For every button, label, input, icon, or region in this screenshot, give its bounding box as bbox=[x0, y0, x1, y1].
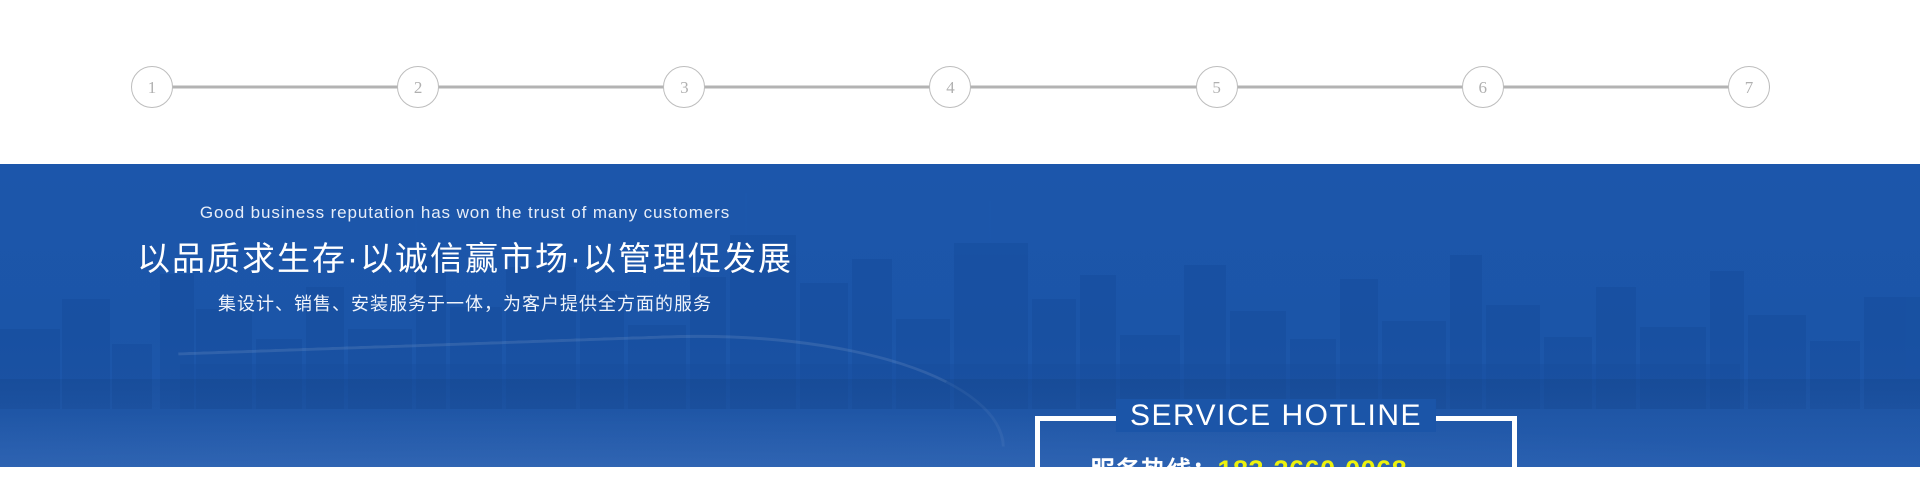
stepper-step-3[interactable]: 3 bbox=[663, 66, 705, 108]
stepper-step-7[interactable]: 7 bbox=[1728, 66, 1770, 108]
hotline-label: 服务热线： bbox=[1090, 451, 1218, 467]
stepper-step-2[interactable]: 2 bbox=[397, 66, 439, 108]
stepper-section: 1 2 3 4 5 6 7 bbox=[0, 0, 1920, 164]
stepper-step-4[interactable]: 4 bbox=[929, 66, 971, 108]
hotline-number-primary[interactable]: 183-2660-0068 bbox=[1218, 455, 1408, 467]
stepper-step-6-label: 6 bbox=[1479, 79, 1488, 96]
stepper-step-6[interactable]: 6 bbox=[1462, 66, 1504, 108]
stepper-step-1[interactable]: 1 bbox=[131, 66, 173, 108]
hotline-rows: 服务热线： 183-2660-0068 服务热线： 0551-63749777 bbox=[1040, 451, 1512, 467]
promo-banner: Good business reputation has won the tru… bbox=[0, 164, 1920, 467]
stepper-step-2-label: 2 bbox=[414, 79, 423, 96]
stepper-step-4-label: 4 bbox=[946, 79, 955, 96]
stepper-step-7-label: 7 bbox=[1745, 79, 1754, 96]
hotline-row-primary: 服务热线： 183-2660-0068 bbox=[1040, 451, 1512, 467]
stepper-step-5-label: 5 bbox=[1212, 79, 1221, 96]
slogan-chinese-sub: 集设计、销售、安装服务于一体，为客户提供全方面的服务 bbox=[0, 294, 930, 316]
slogan-block: Good business reputation has won the tru… bbox=[0, 204, 930, 316]
hotline-title: SERVICE HOTLINE bbox=[1116, 399, 1436, 432]
hotline-box: SERVICE HOTLINE 服务热线： 183-2660-0068 服务热线… bbox=[1035, 416, 1517, 467]
stepper-step-3-label: 3 bbox=[680, 79, 689, 96]
slogan-english: Good business reputation has won the tru… bbox=[0, 204, 930, 223]
slogan-chinese-main: 以品质求生存·以诚信赢市场·以管理促发展 bbox=[0, 239, 930, 279]
stepper-step-1-label: 1 bbox=[148, 79, 157, 96]
stepper-step-5[interactable]: 5 bbox=[1196, 66, 1238, 108]
road-graphic bbox=[0, 379, 1920, 467]
